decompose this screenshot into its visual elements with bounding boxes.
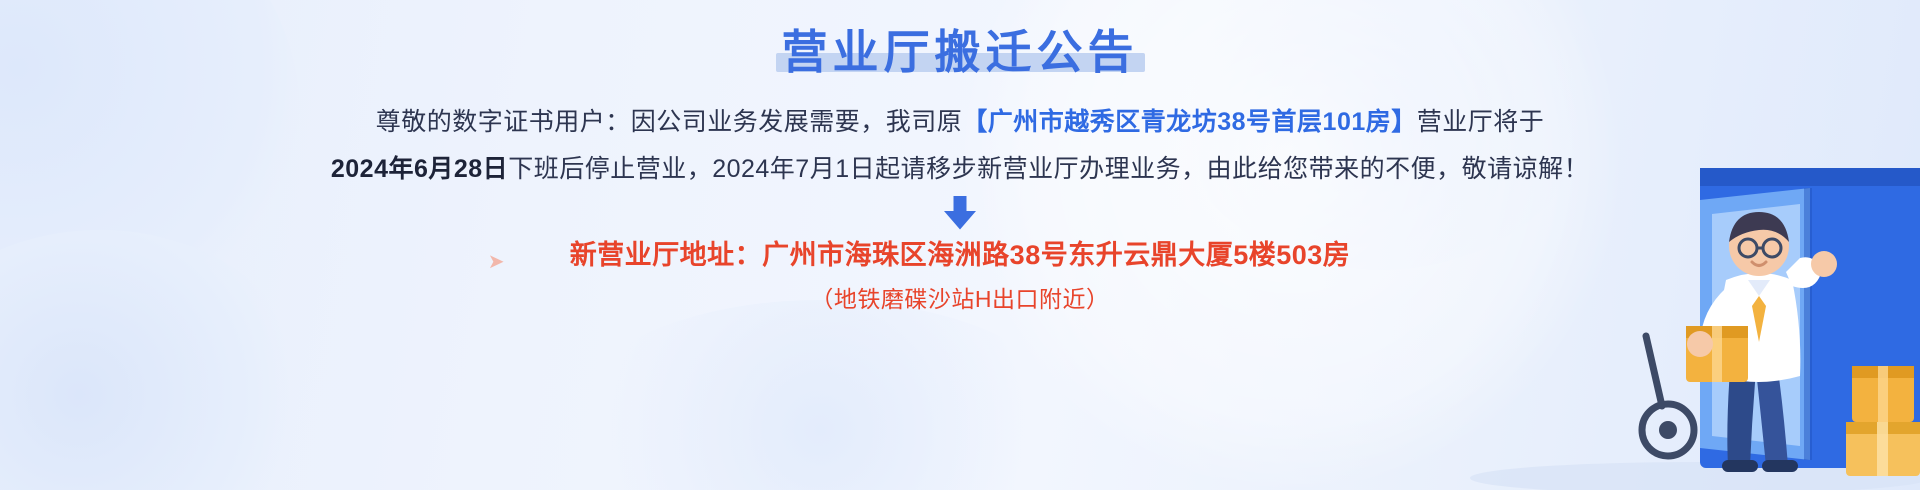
notice-line1-tail: 营业厅将于 — [1417, 108, 1545, 136]
notice-content: 营业厅搬迁公告 尊敬的数字证书用户：因公司业务发展需要，我司原【广州市越秀区青龙… — [240, 0, 1680, 314]
notice-paragraph-line-2: 2024年6月28日下班后停止营业，2024年7月1日起请移步新营业厅办理业务，… — [240, 149, 1680, 190]
notice-line1-lead: 尊敬的数字证书用户：因公司业务发展需要，我司原 — [376, 108, 963, 136]
notice-paragraph-line-1: 尊敬的数字证书用户：因公司业务发展需要，我司原【广州市越秀区青龙坊38号首层10… — [240, 102, 1680, 143]
notice-line2-tail: 下班后停止营业，2024年7月1日起请移步新营业厅办理业务，由此给您带来的不便，… — [508, 155, 1589, 183]
new-address-block: ➤ 新营业厅地址：广州市海珠区海洲路38号东升云鼎大厦5楼503房 （地铁磨碟沙… — [570, 233, 1351, 314]
page-title-wrapper: 营业厅搬迁公告 — [782, 28, 1139, 76]
arrow-right-small-icon: ➤ — [488, 249, 505, 274]
page-title: 营业厅搬迁公告 — [782, 28, 1139, 76]
relocation-notice-banner: 营业厅搬迁公告 尊敬的数字证书用户：因公司业务发展需要，我司原【广州市越秀区青龙… — [0, 0, 1920, 490]
new-address: 新营业厅地址：广州市海珠区海洲路38号东升云鼎大厦5楼503房 — [570, 233, 1351, 272]
new-address-note: （地铁磨碟沙站H出口附近） — [570, 280, 1351, 314]
arrow-down-icon — [240, 195, 1680, 231]
closing-date: 2024年6月28日 — [331, 155, 508, 183]
old-address-highlight: 【广州市越秀区青龙坊38号首层101房】 — [962, 108, 1417, 136]
